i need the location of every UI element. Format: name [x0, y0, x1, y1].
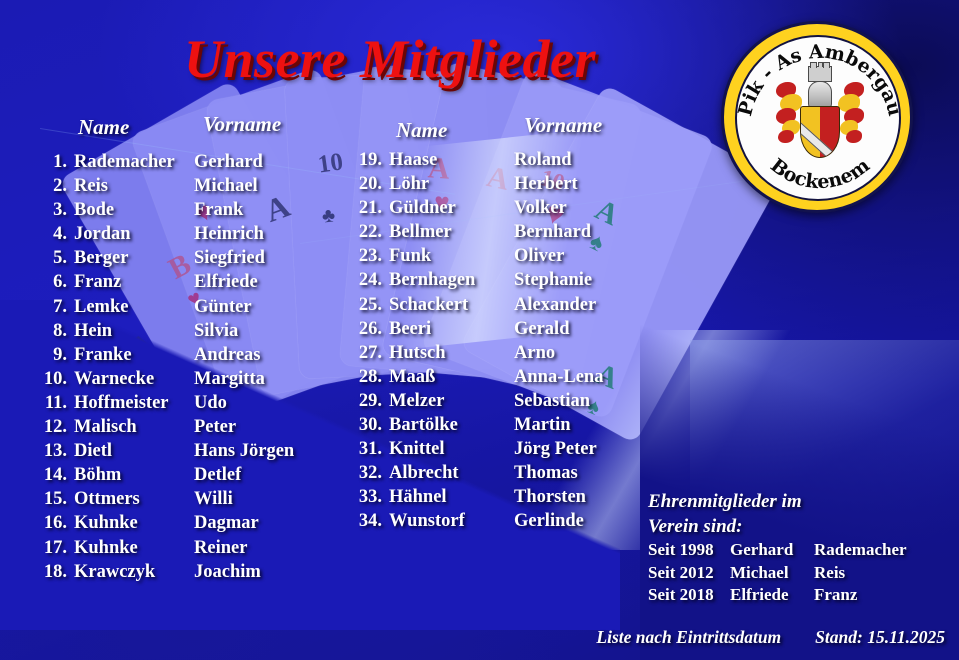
member-surname: Albrecht	[389, 463, 514, 484]
member-index: 29.	[355, 391, 389, 412]
member-row: 20.LöhrHerbert	[355, 174, 603, 198]
member-surname: Funk	[389, 246, 514, 267]
member-index: 27.	[355, 343, 389, 364]
member-surname: Hein	[74, 321, 194, 342]
member-given-name: Bernhard	[514, 222, 591, 243]
right-column-header-name: Name	[396, 118, 447, 143]
member-row: 16.KuhnkeDagmar	[40, 513, 294, 537]
member-row: 5.BergerSiegfried	[40, 248, 294, 272]
member-index: 16.	[40, 513, 74, 534]
honorary-entry: Seit 1998GerhardRademacher	[648, 539, 948, 562]
member-surname: Hoffmeister	[74, 393, 194, 414]
member-surname: Böhm	[74, 465, 194, 486]
honorary-first-name: Gerhard	[730, 539, 814, 562]
member-index: 4.	[40, 224, 74, 245]
member-given-name: Herbert	[514, 174, 578, 195]
member-given-name: Heinrich	[194, 224, 264, 245]
member-index: 26.	[355, 319, 389, 340]
member-given-name: Reiner	[194, 538, 247, 559]
member-surname: Ottmers	[74, 489, 194, 510]
member-index: 24.	[355, 270, 389, 291]
member-index: 5.	[40, 248, 74, 269]
member-surname: Kuhnke	[74, 538, 194, 559]
castle-crest-icon	[808, 66, 832, 82]
member-index: 9.	[40, 345, 74, 366]
honorary-entries: Seit 1998GerhardRademacherSeit 2012Micha…	[648, 539, 948, 607]
member-row: 33.HähnelThorsten	[355, 487, 603, 511]
member-row: 28.MaaßAnna-Lena	[355, 367, 603, 391]
member-surname: Knittel	[389, 439, 514, 460]
member-given-name: Michael	[194, 176, 258, 197]
member-surname: Hutsch	[389, 343, 514, 364]
member-index: 18.	[40, 562, 74, 583]
member-row: 24.BernhagenStephanie	[355, 270, 603, 294]
member-row: 18.KrawczykJoachim	[40, 562, 294, 586]
member-row: 3.BodeFrank	[40, 200, 294, 224]
member-index: 32.	[355, 463, 389, 484]
honorary-entry: Seit 2012MichaelReis	[648, 562, 948, 585]
member-surname: Maaß	[389, 367, 514, 388]
member-row: 22.BellmerBernhard	[355, 222, 603, 246]
member-index: 22.	[355, 222, 389, 243]
member-row: 2.ReisMichael	[40, 176, 294, 200]
member-row: 8.HeinSilvia	[40, 321, 294, 345]
left-column-header-name: Name	[78, 115, 129, 140]
footer: Liste nach Eintrittsdatum Stand: 15.11.2…	[0, 627, 959, 648]
member-surname: Krawczyk	[74, 562, 194, 583]
member-row: 26.BeeriGerald	[355, 319, 603, 343]
member-row: 12.MalischPeter	[40, 417, 294, 441]
member-given-name: Willi	[194, 489, 233, 510]
member-given-name: Joachim	[194, 562, 261, 583]
member-given-name: Detlef	[194, 465, 241, 486]
member-given-name: Margitta	[194, 369, 265, 390]
honorary-since: Seit 2012	[648, 562, 730, 585]
member-index: 25.	[355, 295, 389, 316]
member-index: 7.	[40, 297, 74, 318]
member-surname: Haase	[389, 150, 514, 171]
member-row: 10.WarneckeMargitta	[40, 369, 294, 393]
member-surname: Wunstorf	[389, 511, 514, 532]
member-index: 20.	[355, 174, 389, 195]
member-index: 6.	[40, 272, 74, 293]
member-given-name: Gerlinde	[514, 511, 584, 532]
member-index: 33.	[355, 487, 389, 508]
member-index: 23.	[355, 246, 389, 267]
honorary-since: Seit 1998	[648, 539, 730, 562]
member-given-name: Sebastian	[514, 391, 590, 412]
member-row: 34.WunstorfGerlinde	[355, 511, 603, 535]
member-given-name: Frank	[194, 200, 243, 221]
member-surname: Reis	[74, 176, 194, 197]
member-row: 6.FranzElfriede	[40, 272, 294, 296]
member-surname: Kuhnke	[74, 513, 194, 534]
member-row: 17.KuhnkeReiner	[40, 538, 294, 562]
honorary-last-name: Reis	[814, 562, 845, 585]
member-given-name: Thorsten	[514, 487, 586, 508]
club-logo: Pik - As Ambergau Bockenem	[721, 21, 913, 213]
member-given-name: Peter	[194, 417, 236, 438]
honorary-last-name: Franz	[814, 584, 857, 607]
member-surname: Melzer	[389, 391, 514, 412]
member-row: 32.AlbrechtThomas	[355, 463, 603, 487]
member-row: 14.BöhmDetlef	[40, 465, 294, 489]
member-index: 30.	[355, 415, 389, 436]
member-given-name: Stephanie	[514, 270, 592, 291]
member-given-name: Arno	[514, 343, 555, 364]
member-index: 14.	[40, 465, 74, 486]
member-surname: Hähnel	[389, 487, 514, 508]
honorary-since: Seit 2018	[648, 584, 730, 607]
member-given-name: Siegfried	[194, 248, 265, 269]
member-surname: Malisch	[74, 417, 194, 438]
footer-sort-note: Liste nach Eintrittsdatum	[596, 627, 781, 648]
member-index: 21.	[355, 198, 389, 219]
member-index: 15.	[40, 489, 74, 510]
member-index: 3.	[40, 200, 74, 221]
member-index: 31.	[355, 439, 389, 460]
member-index: 1.	[40, 152, 74, 173]
member-surname: Rademacher	[74, 152, 194, 173]
shield-bend	[800, 116, 840, 158]
member-row: 7.LemkeGünter	[40, 297, 294, 321]
member-index: 12.	[40, 417, 74, 438]
honorary-first-name: Michael	[730, 562, 814, 585]
member-surname: Bellmer	[389, 222, 514, 243]
member-given-name: Oliver	[514, 246, 564, 267]
member-row: 1.RademacherGerhard	[40, 152, 294, 176]
member-given-name: Günter	[194, 297, 252, 318]
member-given-name: Gerald	[514, 319, 570, 340]
member-given-name: Hans Jörgen	[194, 441, 294, 462]
member-row: 15.OttmersWilli	[40, 489, 294, 513]
member-index: 13.	[40, 441, 74, 462]
member-row: 9.FrankeAndreas	[40, 345, 294, 369]
member-surname: Löhr	[389, 174, 514, 195]
member-surname: Berger	[74, 248, 194, 269]
member-index: 8.	[40, 321, 74, 342]
member-row: 30.BartölkeMartin	[355, 415, 603, 439]
member-row: 25.SchackertAlexander	[355, 295, 603, 319]
member-given-name: Martin	[514, 415, 571, 436]
member-given-name: Andreas	[194, 345, 260, 366]
member-row: 19.HaaseRoland	[355, 150, 603, 174]
member-surname: Güldner	[389, 198, 514, 219]
honorary-entry: Seit 2018ElfriedeFranz	[648, 584, 948, 607]
member-index: 11.	[40, 393, 74, 414]
member-surname: Bartölke	[389, 415, 514, 436]
member-given-name: Udo	[194, 393, 227, 414]
member-index: 2.	[40, 176, 74, 197]
card-pip-icon: ♣	[321, 204, 336, 228]
member-given-name: Anna-Lena	[514, 367, 603, 388]
member-index: 28.	[355, 367, 389, 388]
member-given-name: Roland	[514, 150, 572, 171]
member-surname: Franz	[74, 272, 194, 293]
member-given-name: Alexander	[514, 295, 596, 316]
member-row: 13.DietlHans Jörgen	[40, 441, 294, 465]
card-pip-icon: 10	[316, 148, 345, 179]
member-surname: Warnecke	[74, 369, 194, 390]
member-row: 29.MelzerSebastian	[355, 391, 603, 415]
member-index: 19.	[355, 150, 389, 171]
honorary-members-block: Ehrenmitglieder im Verein sind: Seit 199…	[648, 489, 948, 607]
members-list-right: 19.HaaseRoland20.LöhrHerbert21.GüldnerVo…	[355, 150, 603, 536]
helmet-icon	[808, 81, 832, 109]
member-surname: Bernhagen	[389, 270, 514, 291]
member-surname: Lemke	[74, 297, 194, 318]
member-row: 11.HoffmeisterUdo	[40, 393, 294, 417]
honorary-first-name: Elfriede	[730, 584, 814, 607]
member-given-name: Thomas	[514, 463, 578, 484]
member-row: 23.FunkOliver	[355, 246, 603, 270]
honorary-title-line2: Verein sind:	[648, 514, 948, 539]
left-column-header-vorname: Vorname	[203, 112, 281, 137]
honorary-last-name: Rademacher	[814, 539, 907, 562]
member-surname: Bode	[74, 200, 194, 221]
member-given-name: Volker	[514, 198, 567, 219]
member-index: 10.	[40, 369, 74, 390]
footer-as-of-date: Stand: 15.11.2025	[815, 627, 945, 648]
poster-canvas: 10A♣A♥A10♥A♠♥♥BA♠♠AA♣ Unsere Mitglieder …	[0, 0, 959, 660]
members-list-left: 1.RademacherGerhard2.ReisMichael3.BodeFr…	[40, 152, 294, 586]
coat-of-arms	[778, 64, 862, 164]
member-given-name: Gerhard	[194, 152, 263, 173]
member-surname: Dietl	[74, 441, 194, 462]
honorary-title-line1: Ehrenmitglieder im	[648, 489, 948, 514]
member-surname: Jordan	[74, 224, 194, 245]
member-row: 31.KnittelJörg Peter	[355, 439, 603, 463]
member-index: 34.	[355, 511, 389, 532]
page-title: Unsere Mitglieder	[0, 28, 780, 90]
member-given-name: Jörg Peter	[514, 439, 597, 460]
member-surname: Beeri	[389, 319, 514, 340]
member-given-name: Dagmar	[194, 513, 259, 534]
member-surname: Franke	[74, 345, 194, 366]
member-row: 21.GüldnerVolker	[355, 198, 603, 222]
member-index: 17.	[40, 538, 74, 559]
right-column-header-vorname: Vorname	[524, 113, 602, 138]
member-given-name: Silvia	[194, 321, 238, 342]
member-given-name: Elfriede	[194, 272, 258, 293]
member-row: 27.HutschArno	[355, 343, 603, 367]
member-surname: Schackert	[389, 295, 514, 316]
shield-icon	[800, 106, 840, 158]
member-row: 4.JordanHeinrich	[40, 224, 294, 248]
